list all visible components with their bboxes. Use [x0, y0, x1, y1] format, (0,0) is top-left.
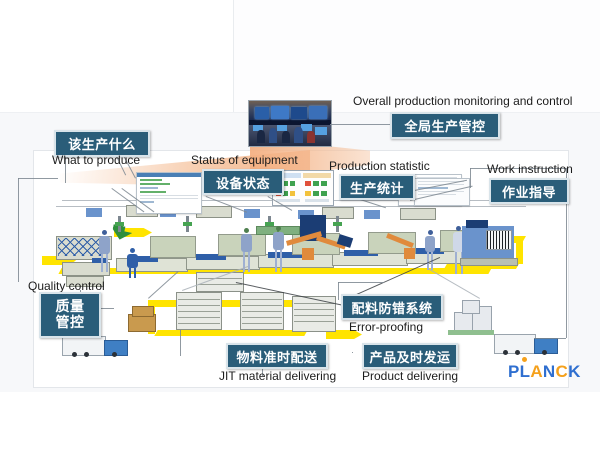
label-what-to-produce-en: What to produce [52, 153, 140, 167]
dashboard-row [140, 183, 170, 185]
badge-quality-control-line2: 管控 [56, 315, 85, 331]
status-cell [305, 191, 311, 196]
label-quality-control-en: Quality control [28, 279, 105, 293]
label-error-proofing-en: Error-proofing [349, 320, 423, 334]
status-cell [290, 181, 295, 186]
status-cell [321, 181, 327, 186]
photo-person-2 [269, 128, 277, 143]
status-cell [290, 191, 295, 196]
overhead-monitor-5 [364, 210, 380, 219]
floor-path-lower [148, 300, 312, 307]
status-cell [305, 181, 311, 186]
shipping-box-3 [462, 300, 480, 314]
badge-overall[interactable]: 全局生产管控 [390, 112, 500, 139]
photo-videowall-1 [255, 107, 269, 119]
badge-production-statistic[interactable]: 生产统计 [339, 174, 415, 200]
label-work-instruction-en: Work instruction [487, 162, 573, 176]
label-jit-material-en: JIT material delivering [219, 369, 336, 383]
andon-lamp-1 [115, 222, 124, 226]
photo-videowall-4 [309, 106, 327, 119]
badge-quality-control[interactable]: 质量 管控 [39, 292, 101, 338]
label-product-delivering-en: Product delivering [362, 369, 458, 383]
delivery-truck-left [62, 336, 128, 362]
status-cell [313, 191, 319, 196]
slide-canvas: 该生产什么 What to produce Overall production… [0, 0, 600, 450]
badge-jit-material[interactable]: 物料准时配送 [226, 343, 328, 369]
dashboard-row [140, 179, 162, 181]
slide-surface: 该生产什么 What to produce Overall production… [0, 0, 600, 392]
logo-dot [522, 357, 527, 362]
worker-1 [98, 230, 112, 272]
badge-quality-control-line1: 质量 [56, 299, 85, 315]
logo-letter-p: P [508, 362, 520, 381]
photo-person-5 [307, 131, 315, 143]
control-room-photo [248, 100, 332, 147]
overhead-hood-4 [400, 208, 436, 220]
slide-header-left-block [0, 0, 233, 113]
dashboard-row [140, 187, 158, 189]
photo-person-1 [257, 130, 265, 143]
floor-path-lower-2 [154, 330, 307, 336]
planck-logo: PLANCK [508, 362, 581, 382]
logo-letter-a: A [530, 362, 543, 381]
label-overall-en: Overall production monitoring and contro… [353, 94, 572, 108]
shipping-pallet-green [448, 330, 494, 335]
wooden-crate-2 [132, 306, 154, 317]
overhead-monitor-1 [86, 208, 102, 217]
badge-product-delivering[interactable]: 产品及时发运 [362, 343, 458, 369]
badge-error-proofing[interactable]: 配料防错系统 [341, 294, 443, 320]
dashboard-row [140, 191, 166, 193]
logo-letter-c: C [555, 362, 568, 381]
status-cell [321, 191, 327, 196]
dashboard-row [140, 195, 198, 196]
worker-2 [126, 248, 140, 278]
logo-letter-n: N [543, 362, 556, 381]
photo-desk-monitor-4 [315, 127, 327, 135]
material-rack-1 [176, 292, 222, 330]
logo-letter-l-glyph: L [520, 362, 531, 381]
photo-videowall-2 [271, 106, 289, 119]
worker-4 [272, 226, 286, 272]
robot-arm-base [302, 248, 314, 260]
packaging-machine-base [460, 258, 518, 266]
status-cell [303, 173, 331, 178]
overhead-monitor-3 [244, 209, 260, 218]
dashboard-titlebar [137, 173, 201, 177]
label-production-statistic-en: Production statistic [329, 159, 430, 173]
worktable-1 [150, 236, 196, 258]
mes-dashboard-screen[interactable] [136, 172, 202, 214]
status-cell [276, 199, 300, 202]
photo-person-3 [282, 131, 290, 143]
material-rack-2 [240, 292, 284, 330]
slide-header-divider [233, 0, 234, 113]
logo-letter-l: L [520, 362, 531, 381]
photo-person-4 [294, 127, 303, 143]
status-cell [305, 199, 329, 202]
dashboard-row [140, 198, 198, 199]
photo-videowall-3 [291, 107, 307, 119]
barcode-label [486, 230, 512, 250]
badge-status-of-equipment[interactable]: 设备状态 [202, 169, 284, 195]
label-status-of-equipment-en: Status of equipment [191, 153, 298, 167]
status-cell [313, 181, 319, 186]
robot-arm-2-base [404, 248, 415, 259]
andon-lamp-4 [333, 222, 342, 226]
badge-work-instruction[interactable]: 作业指导 [489, 178, 569, 204]
photo-desk-monitor-2 [277, 125, 287, 131]
logo-letter-k: K [568, 362, 581, 381]
andon-lamp-2 [183, 222, 192, 226]
packaging-machine-top [466, 220, 488, 228]
